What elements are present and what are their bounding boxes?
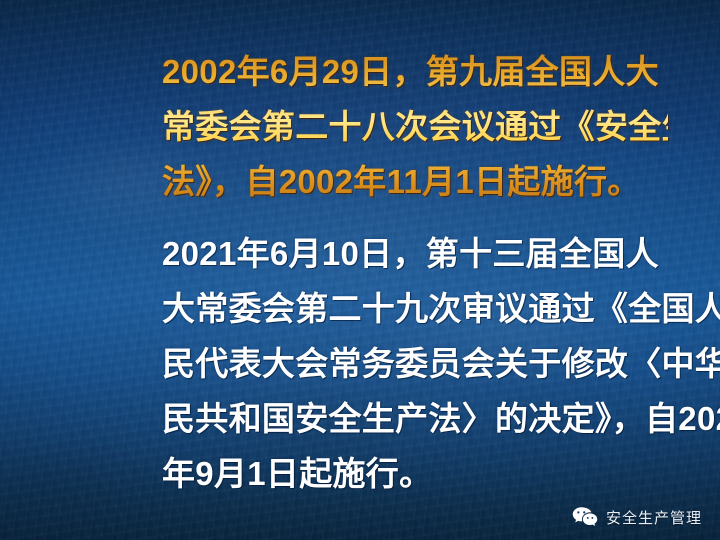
paragraph-line: 2021年6月10日，第十三届全国人 [96,226,668,281]
paragraph-line: 年9月1日起施行。 [96,446,668,501]
paragraph-line: 法》，自2002年11月1日起施行。 [96,154,668,209]
paragraph-line: 民共和国安全生产法〉的决定》，自2021 [96,391,668,446]
paragraph-line: 常委会第二十八次会议通过《安全生产 [96,99,668,154]
wechat-icon [572,506,598,528]
slide-content: 2002年6月29日，第九届全国人大 常委会第二十八次会议通过《安全生产 法》，… [0,0,720,540]
watermark: 安全生产管理 [568,504,706,530]
paragraph-line: 大常委会第二十九次审议通过《全国人 [96,281,668,336]
paragraph-2021-amendment: 2021年6月10日，第十三届全国人 大常委会第二十九次审议通过《全国人 民代表… [96,226,668,501]
watermark-label: 安全生产管理 [606,507,702,528]
paragraph-line: 2002年6月29日，第九届全国人大 [96,44,668,99]
paragraph-2002-safety-law: 2002年6月29日，第九届全国人大 常委会第二十八次会议通过《安全生产 法》，… [96,44,668,209]
presentation-slide: 2002年6月29日，第九届全国人大 常委会第二十八次会议通过《安全生产 法》，… [0,0,720,540]
paragraph-line: 民代表大会常务委员会关于修改〈中华人 [96,336,668,391]
